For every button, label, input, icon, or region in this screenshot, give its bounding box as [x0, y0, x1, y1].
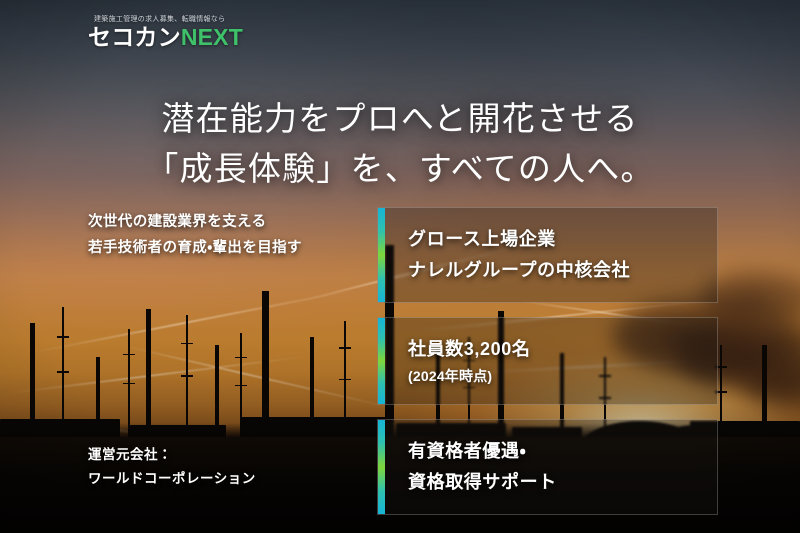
site-logo[interactable]: 建築施工管理の求人募集、転職情報なら セコカンNEXT	[88, 14, 243, 49]
logo-wordmark: セコカンNEXT	[88, 25, 243, 49]
feature-card-line-1: 社員数3,200名	[408, 334, 699, 365]
hero-subcopy-line-1: 次世代の建設業界を支える	[88, 210, 302, 236]
feature-card-line-2: 資格取得サポート	[408, 467, 699, 498]
feature-card-list: グロース上場企業 ナレルグループの中核会社 社員数3,200名 (2024年時点…	[377, 207, 718, 515]
feature-card: 有資格者優遇・ 資格取得サポート	[377, 419, 718, 515]
logo-tagline: 建築施工管理の求人募集、転職情報なら	[94, 14, 243, 24]
feature-card-line-1: 有資格者優遇・	[408, 436, 699, 467]
feature-card: グロース上場企業 ナレルグループの中核会社	[377, 207, 718, 303]
logo-wordmark-jp: セコカン	[88, 24, 181, 50]
operator-company-note: 運営元会社： ワールドコーポレーション	[88, 443, 256, 491]
feature-card-line-2: (2024年時点)	[408, 365, 699, 387]
logo-wordmark-en: NEXT	[181, 24, 243, 50]
operator-company-name: ワールドコーポレーション	[88, 467, 256, 491]
operator-company-label: 運営元会社：	[88, 443, 256, 467]
card-accent-bar	[378, 208, 385, 302]
feature-card-line-1: グロース上場企業	[408, 224, 699, 255]
feature-card: 社員数3,200名 (2024年時点)	[377, 317, 718, 405]
hero-headline-line-2: 「成長体験」を、すべての人へ。	[0, 144, 800, 194]
hero-headline-line-1: 潜在能力をプロへと開花させる	[0, 94, 800, 144]
hero-subcopy: 次世代の建設業界を支える 若手技術者の育成・輩出を目指す	[88, 210, 302, 262]
hero-banner: 建築施工管理の求人募集、転職情報なら セコカンNEXT 潜在能力をプロへと開花さ…	[0, 0, 800, 533]
hero-subcopy-line-2: 若手技術者の育成・輩出を目指す	[88, 236, 302, 262]
feature-card-line-2: ナレルグループの中核会社	[408, 255, 699, 286]
card-accent-bar	[378, 318, 385, 404]
card-accent-bar	[378, 420, 385, 514]
hero-headline: 潜在能力をプロへと開花させる 「成長体験」を、すべての人へ。	[0, 94, 800, 194]
